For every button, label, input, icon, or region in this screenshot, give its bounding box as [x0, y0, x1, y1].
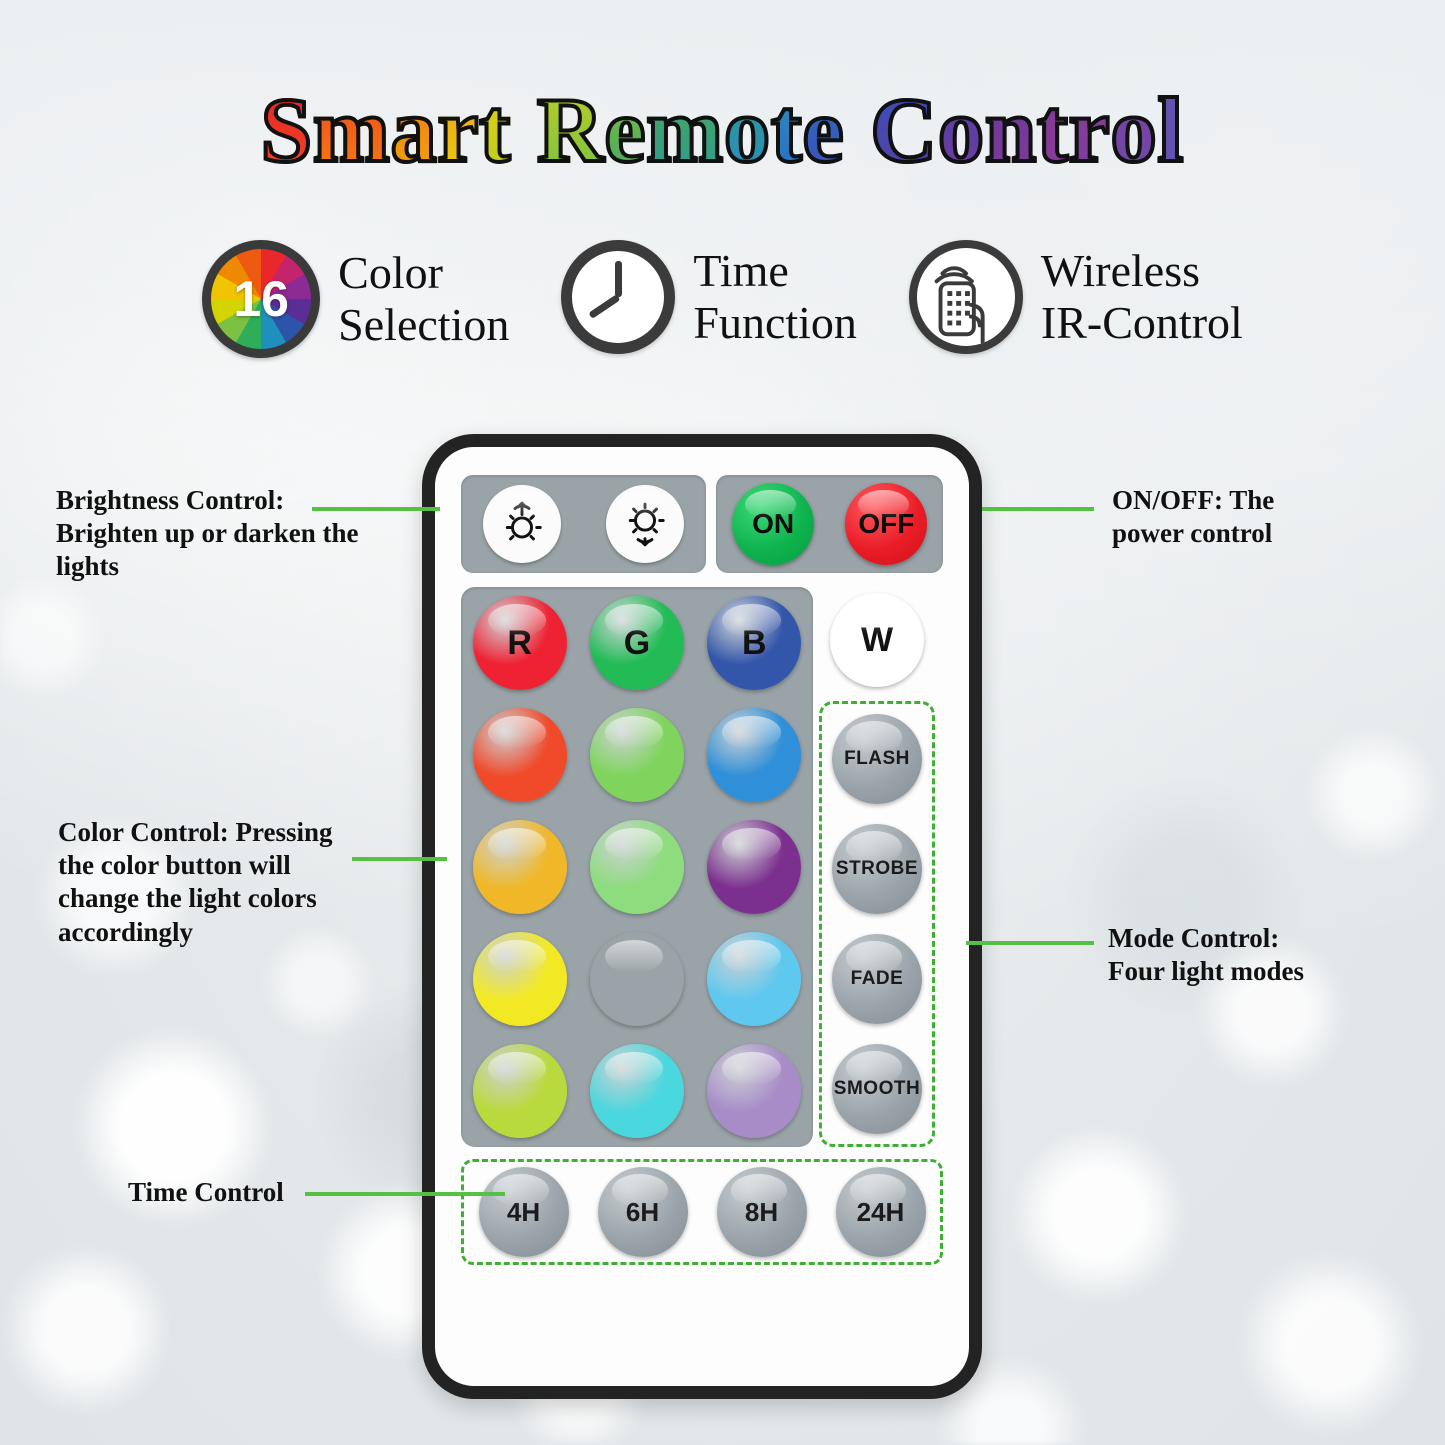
leader-line-color [352, 857, 447, 861]
color-swatch-button[interactable] [707, 820, 801, 914]
annotation-mode: Mode Control: Four light modes [1108, 922, 1408, 988]
feature-wireless-ir: Wireless IR-Control [909, 240, 1243, 354]
leader-line-brightness [312, 507, 440, 511]
mode-button-smooth[interactable]: SMOOTH [832, 1044, 922, 1134]
annotation-time: Time Control [128, 1176, 284, 1209]
feature-time-function: Time Function [561, 240, 857, 354]
wireless-remote-icon [909, 240, 1023, 354]
remote-control-body: ON OFF W RGB FLASHSTROBEFADESMOOTH 4H6H8… [422, 434, 982, 1399]
color-swatch-button[interactable] [707, 1044, 801, 1138]
color-count-badge: 16 [233, 270, 289, 328]
color-swatch-button[interactable] [590, 820, 684, 914]
color-button-g[interactable]: G [590, 596, 684, 690]
color-wheel-icon: 16 [202, 240, 320, 358]
timer-button-6h[interactable]: 6H [598, 1167, 688, 1257]
power-group: ON OFF [716, 475, 943, 573]
annotation-brightness: Brightness Control: Brighten up or darke… [56, 484, 396, 584]
power-on-button[interactable]: ON [732, 483, 814, 565]
timer-button-8h[interactable]: 8H [717, 1167, 807, 1257]
white-button-wrap: W [821, 587, 933, 693]
feature-row: 16 Color Selection Time Function [0, 240, 1445, 358]
timer-button-4h[interactable]: 4H [479, 1167, 569, 1257]
mode-control-group: FLASHSTROBEFADESMOOTH [819, 701, 935, 1147]
color-swatch-button[interactable] [590, 1044, 684, 1138]
color-button-r[interactable]: R [473, 596, 567, 690]
mode-button-flash[interactable]: FLASH [832, 714, 922, 804]
timer-control-group: 4H6H8H24H [461, 1159, 943, 1265]
brightness-up-button[interactable] [483, 485, 561, 563]
color-swatch-button[interactable] [707, 932, 801, 1026]
timer-button-24h[interactable]: 24H [836, 1167, 926, 1257]
remote-top-panel: ON OFF [461, 475, 943, 573]
color-swatch-button[interactable] [473, 708, 567, 802]
feature-label-time-function: Time Function [693, 245, 857, 350]
annotation-onoff: ON/OFF: The power control [1112, 484, 1412, 550]
color-swatch-button[interactable] [707, 708, 801, 802]
color-swatch-button[interactable] [473, 932, 567, 1026]
color-swatch-button[interactable] [590, 932, 684, 1026]
brightness-down-button[interactable] [606, 485, 684, 563]
color-button-w[interactable]: W [830, 593, 924, 687]
annotation-color: Color Control: Pressing the color button… [58, 816, 388, 949]
mode-button-strobe[interactable]: STROBE [832, 824, 922, 914]
leader-line-time [305, 1192, 505, 1196]
leader-line-mode [966, 941, 1094, 945]
clock-icon [561, 240, 675, 354]
page-title: SmartRemoteControl [0, 84, 1445, 176]
leader-line-onoff [982, 507, 1094, 511]
brightness-group [461, 475, 706, 573]
power-off-button[interactable]: OFF [845, 483, 927, 565]
color-swatch-button[interactable] [473, 1044, 567, 1138]
feature-label-color-selection: Color Selection [338, 247, 509, 352]
color-button-b[interactable]: B [707, 596, 801, 690]
mode-button-fade[interactable]: FADE [832, 934, 922, 1024]
color-swatch-button[interactable] [473, 820, 567, 914]
feature-label-wireless-ir: Wireless IR-Control [1041, 245, 1243, 350]
feature-color-selection: 16 Color Selection [202, 240, 509, 358]
color-button-panel: RGB [461, 587, 813, 1147]
color-swatch-button[interactable] [590, 708, 684, 802]
